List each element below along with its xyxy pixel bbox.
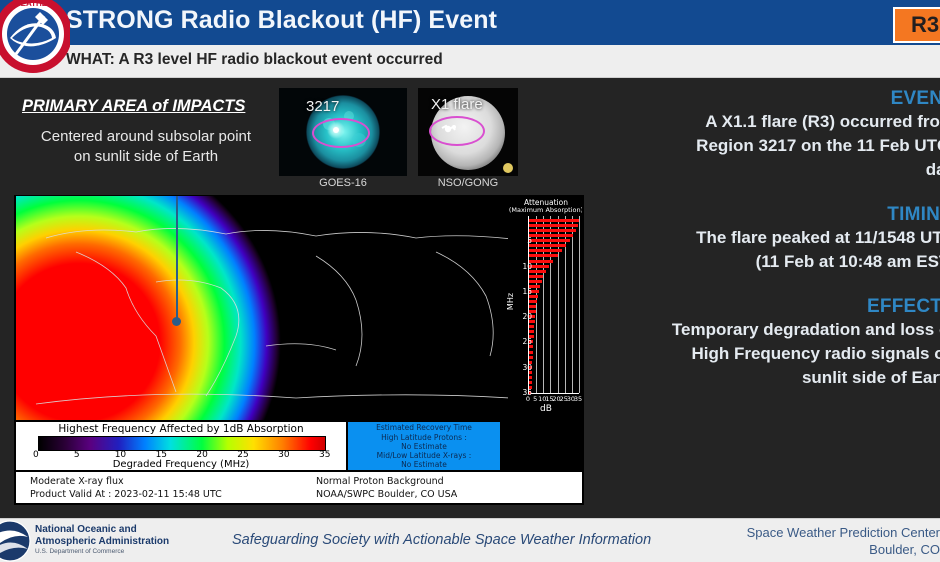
nws-seal-icon: WEATHER ★ ★ ★ <box>0 0 70 74</box>
noaa-name-line2: Atmospheric Administration <box>35 536 169 548</box>
noaa-department: U.S. Department of Commerce <box>35 548 124 555</box>
attenuation-bar <box>529 381 532 384</box>
attenuation-chart-subtitle: (Maximum Absorption) <box>508 206 582 214</box>
subsolar-pointer-line <box>176 196 178 322</box>
attenuation-bar <box>529 300 537 303</box>
subsolar-point-marker <box>172 317 181 326</box>
svg-text:WEATHER: WEATHER <box>13 0 53 8</box>
region-highlight-ellipse <box>312 118 370 148</box>
noaa-agency-name: National Oceanic and Atmospheric Adminis… <box>35 524 169 547</box>
attenuation-bar <box>529 280 542 283</box>
attenuation-y-tick: 30 <box>512 363 532 372</box>
colorbar-title: Highest Frequency Affected by 1dB Absorp… <box>16 423 346 435</box>
slide-root: STRONG Radio Blackout (HF) Event WHAT: A… <box>0 0 940 562</box>
attenuation-x-axis-label: dB <box>508 404 582 414</box>
attenuation-bar <box>529 254 558 257</box>
timing-heading: TIMING <box>600 204 940 226</box>
attenuation-bar <box>529 351 533 354</box>
attenuation-gridline <box>558 216 559 393</box>
recovery-row1-label: High Latitude Protons : <box>348 433 500 442</box>
attenuation-y-tick: 25 <box>512 337 532 346</box>
recovery-title: Estimated Recovery Time <box>348 423 500 432</box>
attenuation-bar <box>529 325 534 328</box>
subheader-text: WHAT: A R3 level HF radio blackout event… <box>66 51 443 69</box>
attenuation-bar <box>529 244 566 247</box>
colorbar-axis-label: Degraded Frequency (MHz) <box>16 459 346 470</box>
gong-flare-tag: X1 flare <box>431 96 483 113</box>
effects-heading: EFFECTS <box>600 296 940 318</box>
proton-background-status: Normal Proton Background <box>316 476 444 487</box>
attenuation-chart: Attenuation (Maximum Absorption) MHz dB … <box>508 197 582 420</box>
attenuation-gridline <box>543 216 544 393</box>
flare-highlight-ellipse <box>429 116 485 146</box>
primary-impacts-title: PRIMARY AREA of IMPACTS <box>22 97 245 116</box>
event-details-column: EVENT A X1.1 flare (R3) occurred from Re… <box>600 88 940 412</box>
attenuation-plot-area <box>528 216 579 394</box>
status-badge: R3 <box>893 7 940 43</box>
svg-text:★ ★ ★: ★ ★ ★ <box>22 65 45 73</box>
drap-product-panel: Attenuation (Maximum Absorption) MHz dB … <box>14 195 584 505</box>
timing-line-2: (11 Feb at 10:48 am EST) <box>600 250 940 274</box>
attenuation-bar <box>529 330 534 333</box>
estimated-recovery-box: Estimated Recovery Time High Latitude Pr… <box>348 422 500 470</box>
product-source: NOAA/SWPC Boulder, CO USA <box>316 489 457 500</box>
attenuation-x-tick: 35 <box>571 395 582 403</box>
noaa-name-line1: National Oceanic and <box>35 524 169 536</box>
swpc-location: Boulder, CO <box>640 542 940 557</box>
xray-flux-status: Moderate X-ray flux <box>30 476 124 487</box>
event-heading: EVENT <box>600 88 940 110</box>
attenuation-bar <box>529 219 579 222</box>
attenuation-bar <box>529 305 536 308</box>
goes16-solar-image: 3217 <box>279 88 407 176</box>
page-title: STRONG Radio Blackout (HF) Event <box>66 6 497 35</box>
drap-status-strip: Moderate X-ray flux Product Valid At : 2… <box>16 472 582 503</box>
effects-line-3: sunlit side of Earth <box>600 366 940 390</box>
attenuation-gridline <box>572 216 573 393</box>
drap-colorbar-block: Highest Frequency Affected by 1dB Absorp… <box>16 422 346 470</box>
attenuation-gridline <box>550 216 551 393</box>
primary-impacts-line1: Centered around subsolar point <box>16 128 276 145</box>
timing-line-1: The flare peaked at 11/1548 UTC <box>600 226 940 250</box>
attenuation-bar <box>529 224 578 227</box>
effects-section: EFFECTS Temporary degradation and loss o… <box>600 296 940 390</box>
timing-section: TIMING The flare peaked at 11/1548 UTC (… <box>600 204 940 274</box>
attenuation-bar <box>529 239 570 242</box>
attenuation-gridline <box>565 216 566 393</box>
absorption-heatmap <box>16 196 582 420</box>
effects-line-2: High Frequency radio signals on <box>600 342 940 366</box>
attenuation-bar <box>529 376 532 379</box>
recovery-row1-value: No Estimate <box>348 442 500 451</box>
event-line-2: Region 3217 on the 11 Feb UTC- <box>600 134 940 158</box>
recovery-row2-label: Mid/Low Latitude X-rays : <box>348 451 500 460</box>
attenuation-y-tick: 5 <box>512 236 532 245</box>
nso-gong-caption: NSO/GONG <box>418 177 518 189</box>
attenuation-bar <box>529 265 549 268</box>
goes16-region-tag: 3217 <box>306 98 339 115</box>
attenuation-bar <box>529 275 543 278</box>
attenuation-bar <box>529 229 576 232</box>
swpc-name: Space Weather Prediction Center <box>640 525 940 540</box>
attenuation-bar <box>529 260 553 263</box>
attenuation-y-tick: 15 <box>512 287 532 296</box>
attenuation-bar <box>529 356 533 359</box>
drap-world-map: Attenuation (Maximum Absorption) MHz dB … <box>16 196 582 420</box>
colorbar-gradient <box>38 436 326 451</box>
attenuation-bar <box>529 234 573 237</box>
product-valid-time: Product Valid At : 2023-02-11 15:48 UTC <box>30 489 222 500</box>
attenuation-bar <box>529 249 562 252</box>
footer-tagline: Safeguarding Society with Actionable Spa… <box>232 532 651 548</box>
event-line-3: day <box>600 158 940 182</box>
attenuation-y-tick: 10 <box>512 262 532 271</box>
attenuation-gridline <box>579 216 580 393</box>
nso-gong-solar-image: X1 flare <box>418 88 518 176</box>
event-line-1: A X1.1 flare (R3) occurred from <box>600 110 940 134</box>
recovery-row2-value: No Estimate <box>348 460 500 469</box>
primary-impacts-line2: on sunlit side of Earth <box>16 148 276 165</box>
event-section: EVENT A X1.1 flare (R3) occurred from Re… <box>600 88 940 182</box>
effects-line-1: Temporary degradation and loss of <box>600 318 940 342</box>
attenuation-y-tick: 20 <box>512 312 532 321</box>
goes16-caption: GOES-16 <box>279 177 407 189</box>
